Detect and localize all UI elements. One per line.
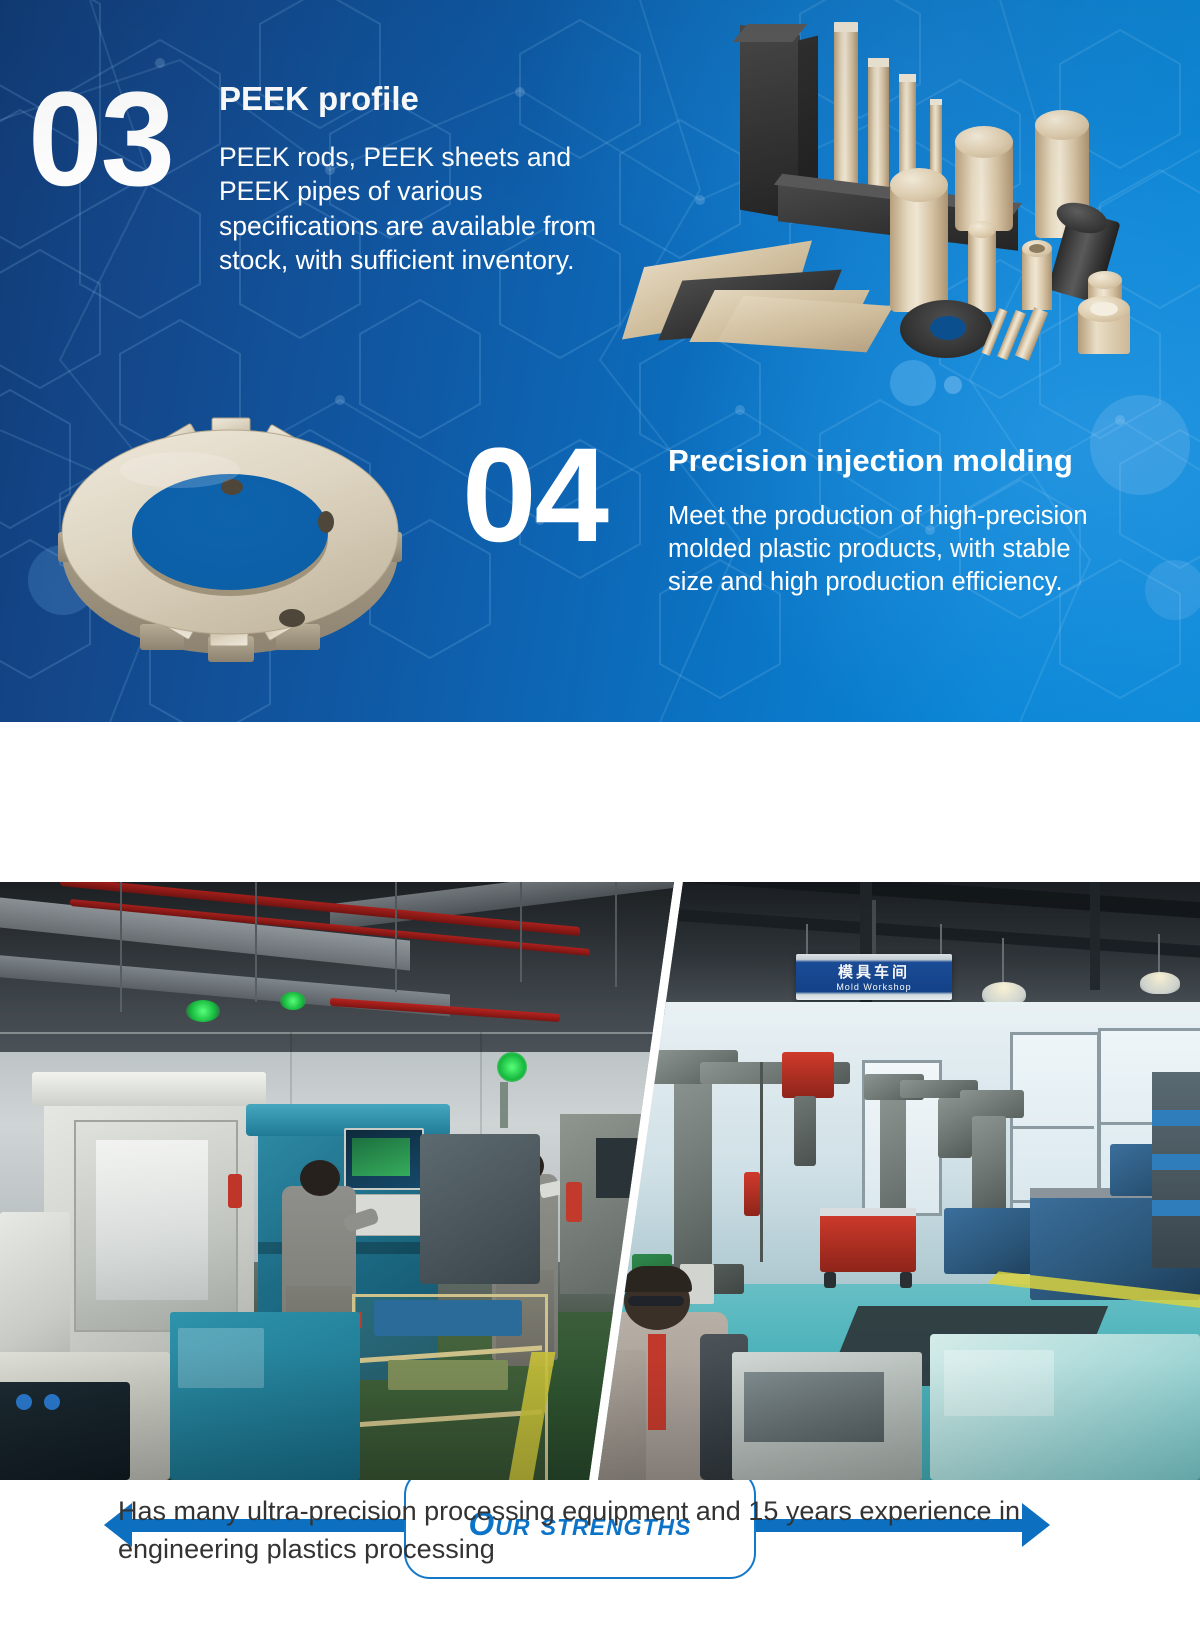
photo-cnc-workshop: [0, 882, 676, 1480]
workshop-photo-gallery: 模具车间 Mold Workshop: [0, 882, 1200, 1480]
gallery-caption: Has many ultra-precision processing equi…: [0, 1492, 1200, 1569]
our-strengths-band: Our strengths: [0, 722, 1200, 882]
hero-overlay: [0, 0, 1200, 722]
hero-banner: 03 PEEK profile PEEK rods, PEEK sheets a…: [0, 0, 1200, 722]
page-root: 03 PEEK profile PEEK rods, PEEK sheets a…: [0, 0, 1200, 1632]
